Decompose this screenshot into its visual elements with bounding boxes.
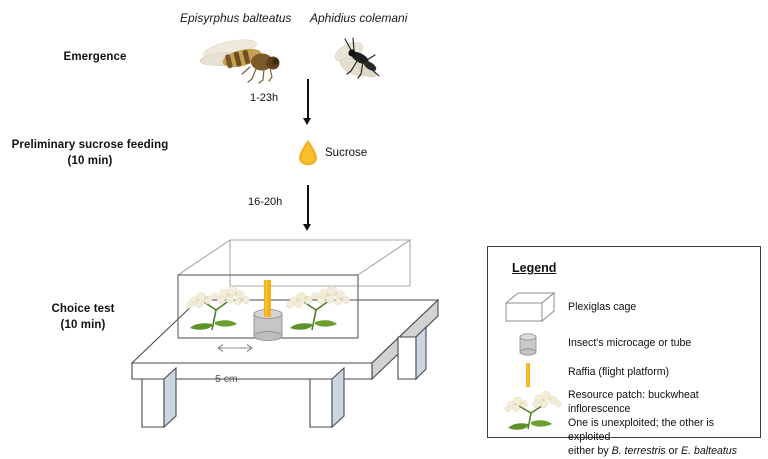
species-e-balteatus: E. balteatus bbox=[681, 445, 737, 457]
transition-duration-1: 1-23h bbox=[250, 92, 278, 104]
legend-item-label-resource-patch: Resource patch: buckwheat inflorescence … bbox=[568, 389, 754, 459]
transition-arrow-2-head bbox=[303, 224, 311, 231]
transition-arrow-1-line bbox=[307, 79, 309, 119]
legend-title: Legend bbox=[512, 261, 556, 275]
step-label-emergence: Emergence bbox=[20, 50, 170, 66]
sucrose-label: Sucrose bbox=[325, 147, 367, 159]
plexiglas-cage-icon bbox=[504, 291, 556, 325]
hoverfly-icon bbox=[186, 32, 294, 88]
parasitoid-wasp-icon bbox=[327, 33, 397, 85]
resource-patch-line-3-pre: either by bbox=[568, 445, 612, 457]
transition-arrow-1-head bbox=[303, 118, 311, 125]
legend-item-label-microcage: Insect's microcage or tube bbox=[568, 337, 691, 351]
species-name-episyrphus: Episyrphus balteatus bbox=[180, 11, 291, 25]
sucrose-droplet-icon bbox=[297, 139, 319, 165]
raffia-icon bbox=[524, 363, 532, 387]
species-b-terrestris: B. terrestris bbox=[612, 445, 666, 457]
dimension-label: 5 cm bbox=[215, 373, 238, 385]
step-label-sucrose-feeding: Preliminary sucrose feeding (10 min) bbox=[0, 138, 180, 169]
legend-item-label-raffia: Raffia (flight platform) bbox=[568, 366, 669, 380]
choice-test-apparatus bbox=[120, 238, 460, 443]
legend-box: Legend Plexiglas cage Insect's microcage… bbox=[487, 246, 761, 438]
resource-patch-line-3-mid: or bbox=[666, 445, 681, 457]
resource-patch-line-2: One is unexploited; the other is exploit… bbox=[568, 417, 714, 443]
legend-item-label-cage: Plexiglas cage bbox=[568, 301, 636, 315]
resource-patch-line-1: Resource patch: buckwheat inflorescence bbox=[568, 389, 699, 415]
species-name-aphidius: Aphidius colemani bbox=[310, 11, 407, 25]
transition-duration-2: 16-20h bbox=[248, 196, 282, 208]
microcage-tube-icon bbox=[254, 309, 282, 341]
buckwheat-inflorescence-icon bbox=[498, 391, 562, 433]
transition-arrow-2-line bbox=[307, 185, 309, 225]
microcage-tube-icon bbox=[516, 332, 540, 358]
